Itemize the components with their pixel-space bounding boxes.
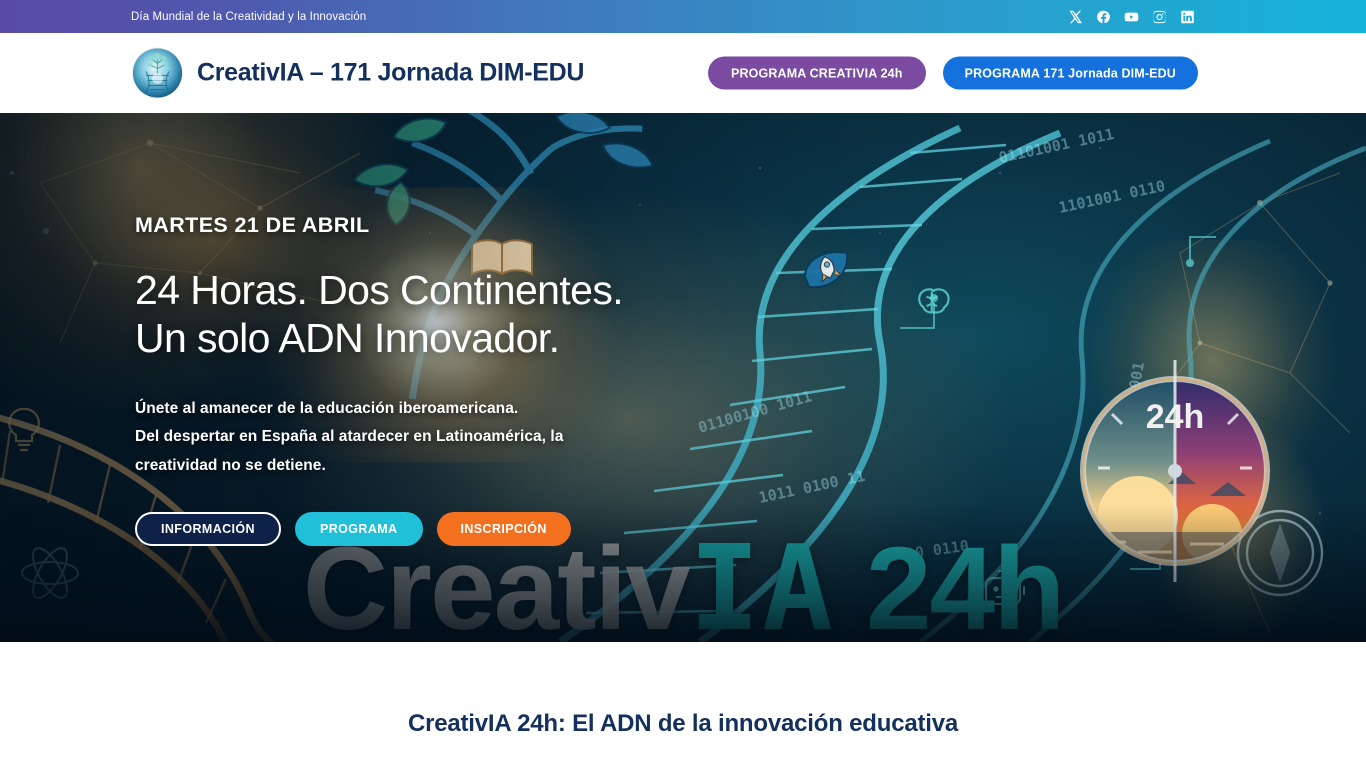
facebook-icon[interactable] [1096,9,1111,24]
hero-subtext: Únete al amanecer de la educación iberoa… [135,395,623,481]
programa-button[interactable]: PROGRAMA [295,512,423,546]
section-title: CreativIA 24h: El ADN de la innovación e… [408,710,958,738]
hero-kicker: MARTES 21 DE ABRIL [135,213,623,238]
tagline: Día Mundial de la Creatividad y la Innov… [131,11,366,23]
hero-headline-line-2: Un solo ADN Innovador. [135,314,623,362]
programa-jornada-button[interactable]: PROGRAMA 171 Jornada DIM-EDU [943,57,1198,90]
top-utility-bar: Día Mundial de la Creatividad y la Innov… [0,0,1366,33]
header-nav: PROGRAMA CREATIVIA 24h PROGRAMA 171 Jorn… [708,57,1198,90]
clock-label: 24h [1145,398,1204,436]
hero-headline: 24 Horas. Dos Continentes. Un solo ADN I… [135,266,623,363]
hero-headline-line-1: 24 Horas. Dos Continentes. [135,266,623,314]
instagram-icon[interactable] [1152,9,1167,24]
youtube-icon[interactable] [1124,9,1139,24]
hero-subtext-line-2: Del despertar en España al atardecer en … [135,423,623,452]
hero-subtext-line-1: Únete al amanecer de la educación iberoa… [135,395,623,424]
x-twitter-icon[interactable] [1068,9,1083,24]
hero-copy: MARTES 21 DE ABRIL 24 Horas. Dos Contine… [135,213,623,546]
hero-banner: 01101001 1011 1101001 0110 01100100 1011… [0,113,1366,642]
hero-subtext-line-3: creatividad no se detiene. [135,452,623,481]
brand[interactable]: CreativIA – 171 Jornada DIM-EDU [133,49,584,98]
page-title: CreativIA – 171 Jornada DIM-EDU [197,59,584,88]
linkedin-icon[interactable] [1180,9,1195,24]
hero-cta-row: INFORMACIÓN PROGRAMA INSCRIPCIÓN [135,512,623,546]
programa-creativia-button[interactable]: PROGRAMA CREATIVIA 24h [708,57,926,90]
informacion-button[interactable]: INFORMACIÓN [135,512,281,546]
social-links [1068,9,1195,24]
inscripcion-button[interactable]: INSCRIPCIÓN [437,512,571,546]
intro-section: CreativIA 24h: El ADN de la innovación e… [0,642,1366,768]
logo-icon [133,49,182,98]
site-header: CreativIA – 171 Jornada DIM-EDU PROGRAMA… [0,33,1366,113]
